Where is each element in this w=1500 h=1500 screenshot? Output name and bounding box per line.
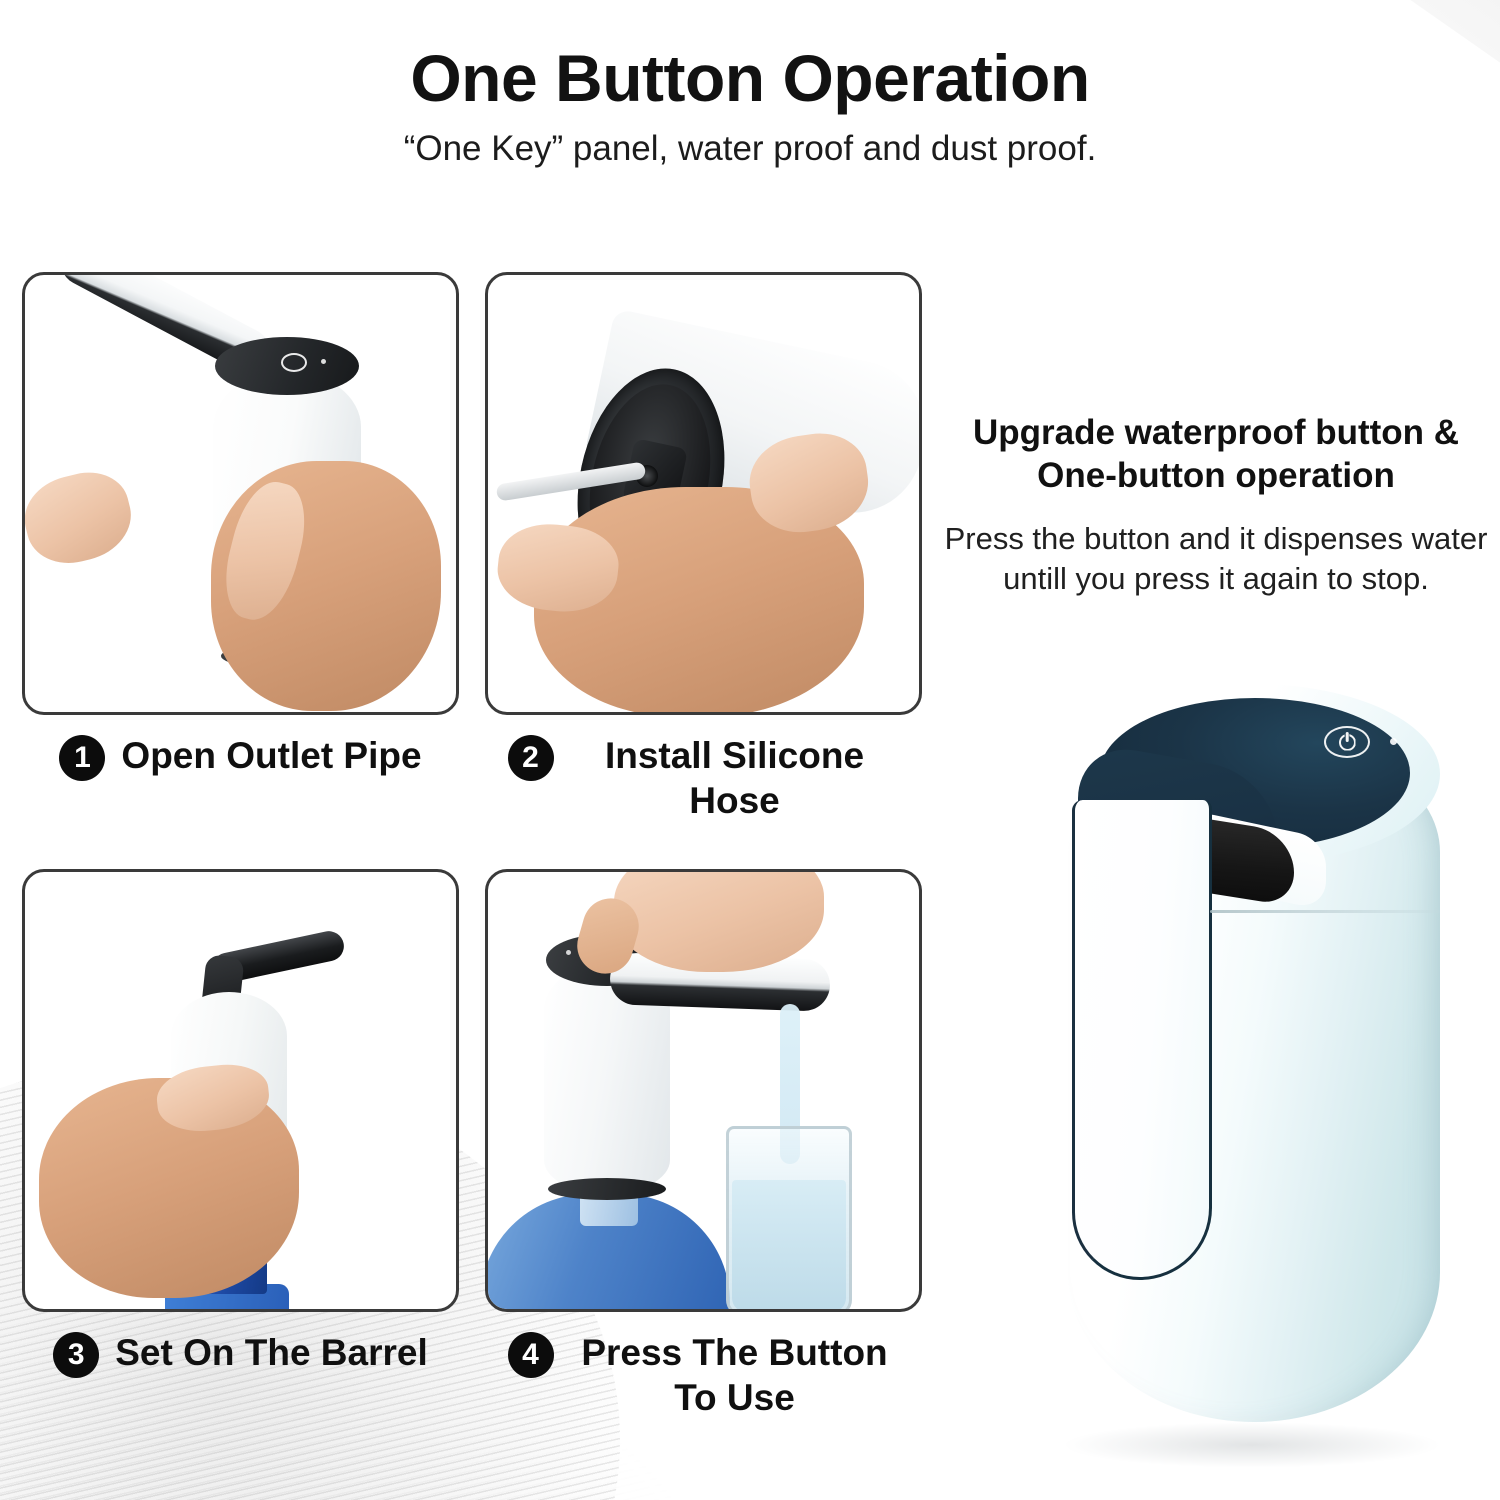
header: One Button Operation “One Key” panel, wa…	[0, 0, 1500, 169]
step-badge-2: 2	[508, 735, 554, 781]
step-photo-3	[22, 869, 459, 1312]
step-card-1: 1 Open Outlet Pipe	[22, 272, 459, 823]
power-bar	[1346, 732, 1349, 742]
hand-graphic	[614, 869, 824, 972]
steps-row-top: 1 Open Outlet Pipe 2	[22, 272, 922, 823]
step-caption-3: 3 Set On The Barrel	[22, 1330, 459, 1378]
finger-graphic	[22, 463, 140, 572]
hero-product-image	[1038, 672, 1468, 1462]
glass-water	[732, 1180, 846, 1312]
step-caption-2: 2 Install Silicone Hose	[485, 733, 922, 823]
step-card-3: 3 Set On The Barrel	[22, 869, 459, 1420]
feature-heading: Upgrade waterproof button & One-button o…	[940, 412, 1492, 497]
steps-row-bottom: 3 Set On The Barrel	[22, 869, 922, 1420]
step-badge-4: 4	[508, 1332, 554, 1378]
feature-text-block: Upgrade waterproof button & One-button o…	[940, 412, 1492, 599]
step-badge-3: 3	[53, 1332, 99, 1378]
hero-spout-face	[1072, 800, 1212, 1280]
step-caption-1: 1 Open Outlet Pipe	[22, 733, 459, 781]
led-indicator-icon	[321, 359, 326, 364]
steps-grid: 1 Open Outlet Pipe 2	[22, 272, 922, 1421]
step-badge-1: 1	[59, 735, 105, 781]
step-caption-4: 4 Press The Button To Use	[485, 1330, 922, 1420]
power-icon	[281, 353, 307, 372]
step-label-1: Open Outlet Pipe	[121, 733, 421, 778]
step-photo-2	[485, 272, 922, 715]
step-photo-1	[22, 272, 459, 715]
page-title: One Button Operation	[0, 44, 1500, 113]
step-card-2: 2 Install Silicone Hose	[485, 272, 922, 823]
step-card-4: 4 Press The Button To Use	[485, 869, 922, 1420]
hero-shadow	[1062, 1422, 1442, 1468]
infographic-page: One Button Operation “One Key” panel, wa…	[0, 0, 1500, 1500]
feature-body: Press the button and it dispenses water …	[940, 519, 1492, 598]
step-label-2: Install Silicone Hose	[570, 733, 900, 823]
step-photo-4	[485, 869, 922, 1312]
power-icon	[1324, 726, 1370, 758]
hero-body-seam	[1210, 910, 1440, 913]
led-indicator-icon	[1390, 738, 1397, 745]
step-label-4: Press The Button To Use	[570, 1330, 900, 1420]
power-glyph	[1339, 734, 1356, 751]
page-subtitle: “One Key” panel, water proof and dust pr…	[0, 129, 1500, 169]
step-label-3: Set On The Barrel	[115, 1330, 428, 1375]
